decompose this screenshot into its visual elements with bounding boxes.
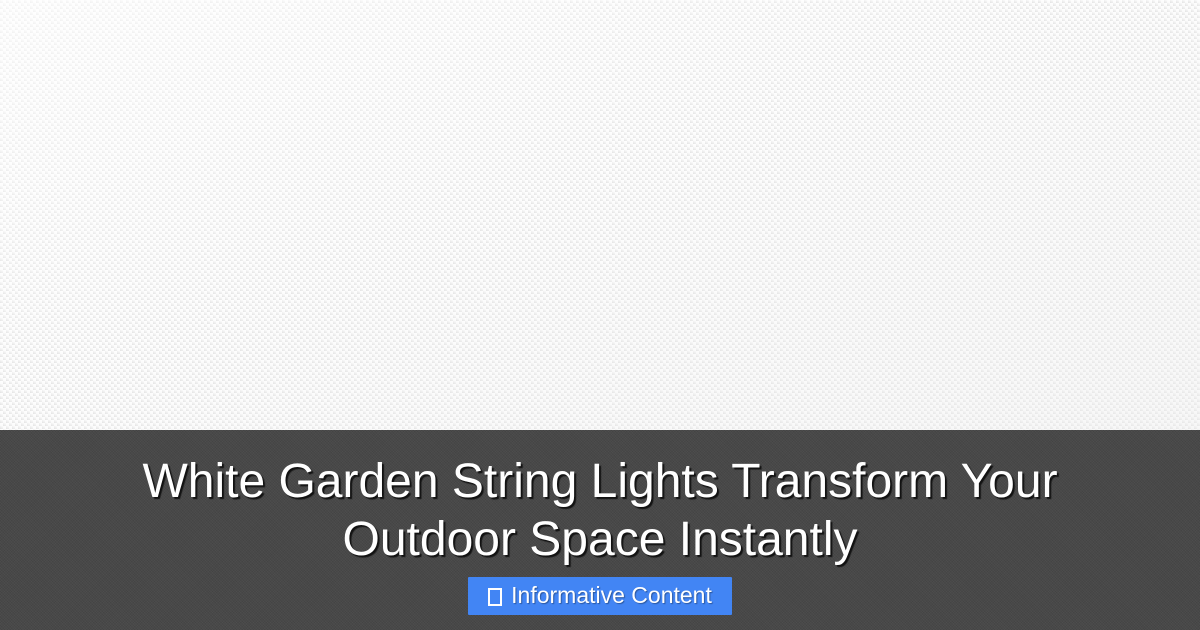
page-title-line-2: Outdoor Space Instantly bbox=[343, 513, 858, 566]
status-badge-label: Informative Content bbox=[511, 584, 712, 607]
page-title-line-1: White Garden String Lights Transform You… bbox=[142, 455, 1057, 508]
caption-band: White Garden String Lights Transform You… bbox=[0, 430, 1200, 630]
page-title: White Garden String Lights Transform You… bbox=[70, 430, 1130, 569]
hero-image-placeholder bbox=[0, 0, 1200, 430]
hero-sheen-overlay bbox=[0, 0, 1200, 430]
badge-row: Informative Content bbox=[0, 577, 1200, 615]
og-image-card: White Garden String Lights Transform You… bbox=[0, 0, 1200, 630]
missing-glyph-box-icon bbox=[488, 588, 502, 606]
status-badge: Informative Content bbox=[468, 577, 732, 615]
